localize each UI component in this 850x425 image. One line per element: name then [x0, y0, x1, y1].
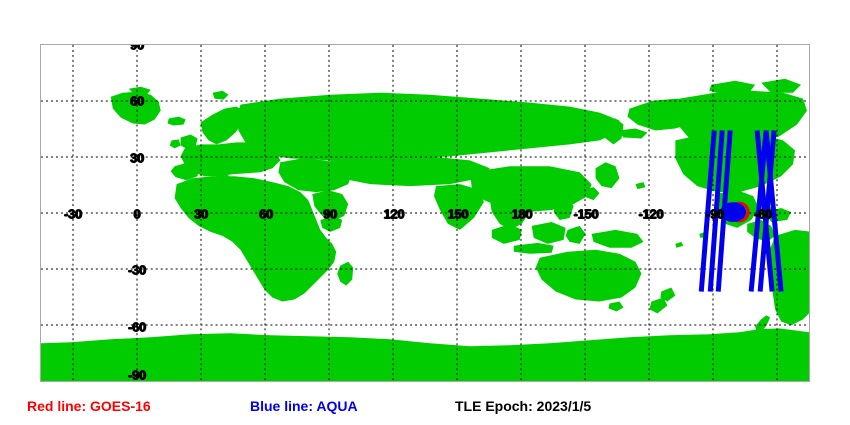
lon-tick--90: -90	[706, 208, 724, 221]
land-new-guinea	[592, 230, 644, 248]
lat-tick--30: -30	[128, 264, 146, 277]
land-java	[514, 243, 554, 254]
tle-epoch-key: TLE Epoch:	[455, 398, 533, 414]
land-russia	[236, 93, 619, 161]
legend-aqua-value: AQUA	[316, 398, 357, 414]
lat-tick--90: -90	[128, 369, 146, 382]
lon-tick-60: 60	[259, 208, 273, 221]
legend-caption-bar: Red line: GOES-16 Blue line: AQUA TLE Ep…	[0, 396, 850, 420]
lon-tick-0: 0	[134, 208, 141, 221]
legend-entry-goes16: Red line: GOES-16	[27, 399, 151, 413]
lon-tick--150: -150	[574, 208, 599, 221]
land-aleutians	[617, 129, 647, 139]
land-ireland	[170, 139, 181, 148]
aqua-position-marker-icon	[720, 202, 746, 222]
legend-aqua-key: Blue line:	[250, 398, 313, 414]
land-tasmania	[609, 301, 624, 311]
land-iberia	[171, 162, 199, 180]
lon-tick--120: -120	[639, 208, 664, 221]
land-madagascar	[337, 262, 353, 286]
land-central-america	[747, 220, 775, 242]
land-pacific-island-a	[675, 242, 683, 248]
land-iceland	[168, 117, 186, 126]
lon-tick-180: 180	[512, 208, 533, 221]
lon-tick-30: 30	[194, 208, 208, 221]
legend-goes16-value: GOES-16	[90, 398, 151, 414]
lon-tick-90: 90	[323, 208, 337, 221]
land-canada-arctic-a	[709, 81, 755, 95]
legend-entry-tle-epoch: TLE Epoch: 2023/1/5	[455, 399, 591, 413]
lat-tick-30: 30	[130, 152, 144, 165]
world-map-panel: -30 0 30 60 90 120 150 180 -150 -120 -90…	[40, 44, 810, 382]
land-japan	[596, 162, 620, 188]
land-hawaii	[635, 182, 645, 189]
legend-entry-aqua: Blue line: AQUA	[250, 399, 358, 413]
land-east-asia	[470, 166, 592, 212]
lat-tick-90: 90	[130, 44, 144, 52]
tle-epoch-value: 2023/1/5	[537, 398, 592, 414]
lon-tick-120: 120	[384, 208, 405, 221]
lon-tick-150: 150	[448, 208, 469, 221]
lon-tick--60: -60	[754, 208, 772, 221]
land-central-asia	[328, 156, 490, 186]
land-canada-arctic-b	[761, 79, 801, 93]
land-antarctica	[41, 328, 809, 381]
satellite-ground-track-figure: -30 0 30 60 90 120 150 180 -150 -120 -90…	[0, 0, 850, 425]
landmass-group	[41, 79, 809, 381]
land-sulawesi	[566, 226, 586, 244]
land-sumatra	[492, 224, 522, 244]
lon-tick--30: -30	[64, 208, 82, 221]
world-map-svg	[41, 45, 809, 381]
lat-tick--60: -60	[128, 321, 146, 334]
land-svalbard	[213, 91, 229, 100]
legend-goes16-key: Red line:	[27, 398, 86, 414]
land-africa	[175, 176, 337, 301]
land-australia	[536, 250, 642, 302]
lat-tick-60: 60	[130, 95, 144, 108]
land-borneo	[532, 222, 566, 244]
